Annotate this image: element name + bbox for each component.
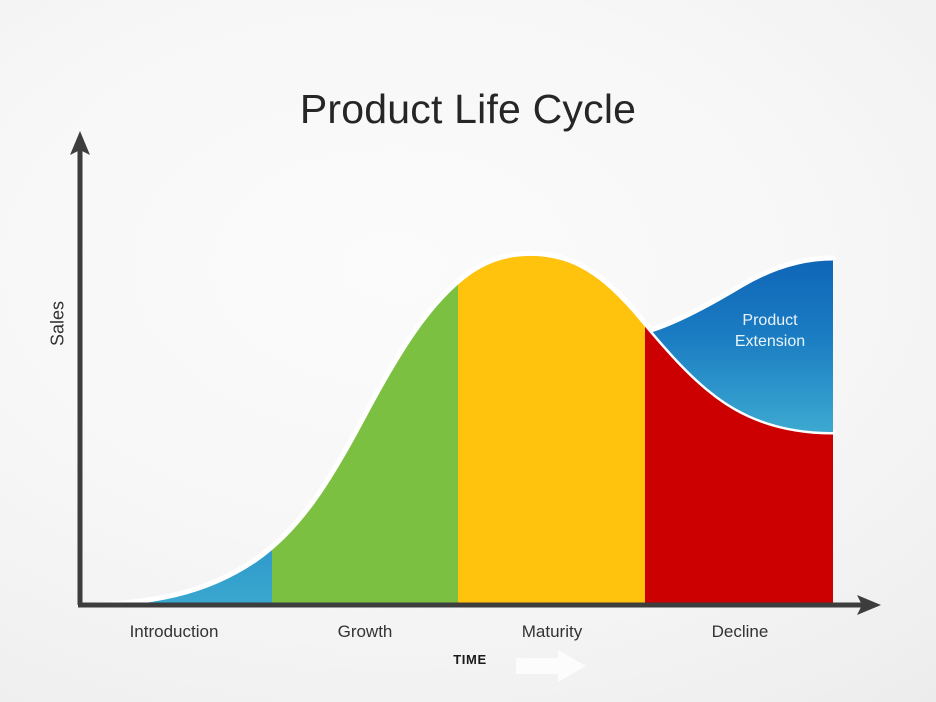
- stage-label-growth: Growth: [283, 622, 447, 642]
- stage-label-introduction: Introduction: [92, 622, 256, 642]
- stage-label-decline: Decline: [658, 622, 822, 642]
- y-axis-label: Sales: [48, 264, 69, 384]
- slide-canvas: Product Life Cycle: [0, 0, 936, 702]
- product-extension-label-line1: Product: [703, 310, 837, 331]
- product-extension-label-line2: Extension: [703, 331, 837, 352]
- product-extension-label: Product Extension: [703, 310, 837, 353]
- stage-area-maturity: [458, 230, 645, 608]
- lifecycle-area-stages: [80, 230, 835, 608]
- stage-area-introduction: [80, 230, 272, 608]
- x-axis-label: TIME: [405, 652, 535, 667]
- stage-label-maturity: Maturity: [470, 622, 634, 642]
